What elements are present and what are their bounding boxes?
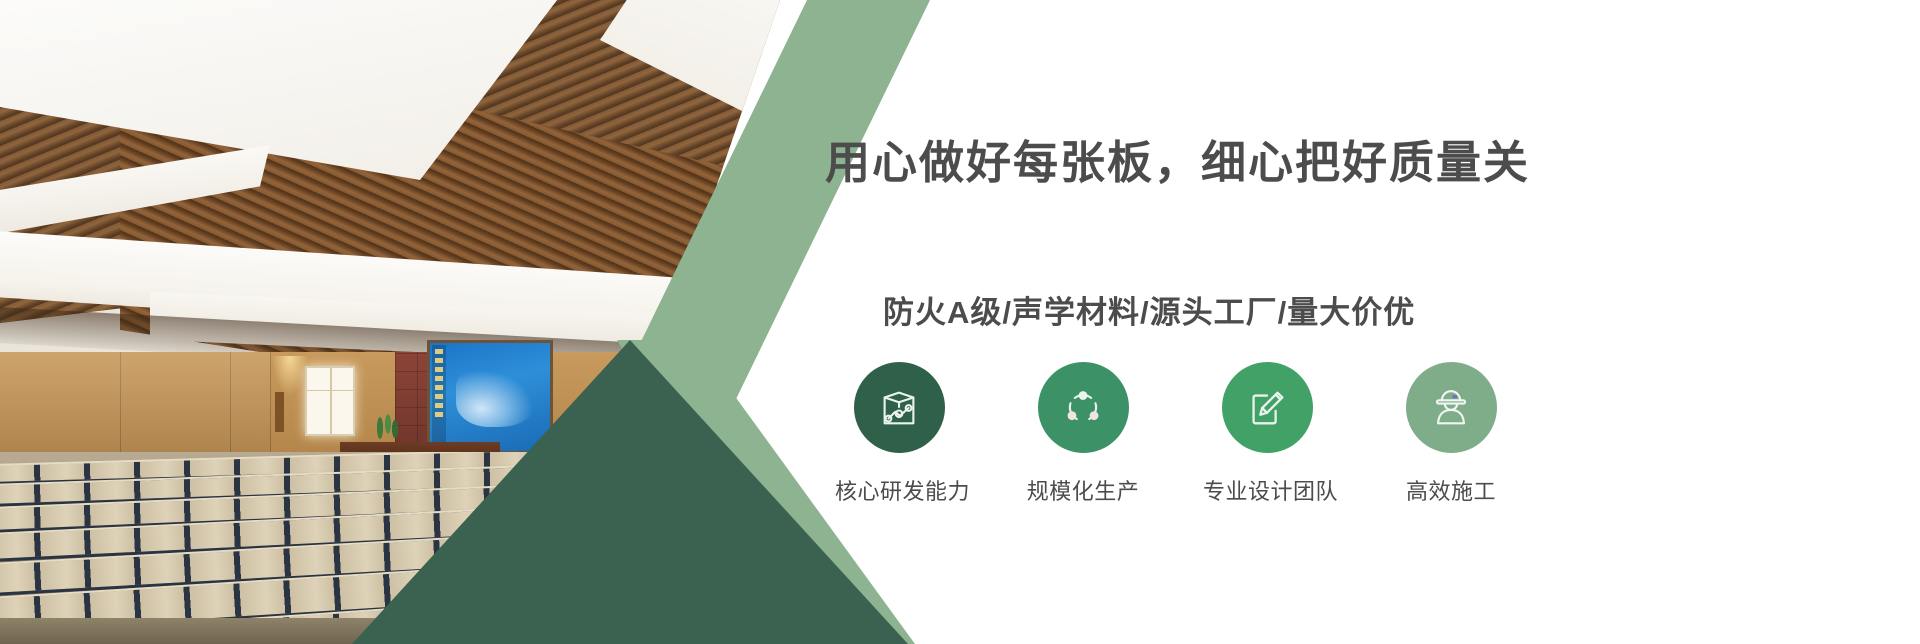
feature-item-design-team[interactable]: 专业设计团队 <box>1203 362 1331 506</box>
feature-label: 专业设计团队 <box>1203 474 1331 506</box>
feature-item-scale-production[interactable]: 规模化生产 <box>1019 362 1147 506</box>
wall-door-slot <box>275 392 284 432</box>
projection-screen <box>427 340 553 454</box>
feature-label: 规模化生产 <box>1019 474 1147 506</box>
feature-label: 核心研发能力 <box>835 474 963 506</box>
share-network-icon <box>1038 362 1129 453</box>
auditorium-seating <box>0 452 820 644</box>
wall-window <box>305 366 355 436</box>
hero-banner: 用心做好每张板，细心把好质量关 防火A级/声学材料/源头工厂/量大价优 <box>0 0 1920 644</box>
banner-content: 用心做好每张板，细心把好质量关 防火A级/声学材料/源头工厂/量大价优 <box>825 0 1920 644</box>
feature-list: 核心研发能力 规模化生产 <box>835 362 1515 506</box>
edit-pencil-square-icon <box>1222 362 1313 453</box>
photo-canvas <box>0 0 820 644</box>
feature-item-core-rnd[interactable]: 核心研发能力 <box>835 362 963 506</box>
aisle-floor <box>0 618 820 644</box>
feature-item-efficient-construction[interactable]: 高效施工 <box>1387 362 1515 506</box>
potted-plant <box>370 408 404 446</box>
screen-sidebar-icons <box>432 345 446 449</box>
headline: 用心做好每张板，细心把好质量关 <box>825 126 1530 191</box>
auditorium-photo <box>0 0 820 644</box>
screen-wallpaper-swirl <box>456 365 540 427</box>
rnd-box-chart-icon <box>854 362 945 453</box>
feature-label: 高效施工 <box>1387 474 1515 506</box>
subheadline: 防火A级/声学材料/源头工厂/量大价优 <box>883 287 1415 332</box>
wall-sconce-glow <box>272 356 308 396</box>
hard-hat-worker-icon <box>1406 362 1497 453</box>
